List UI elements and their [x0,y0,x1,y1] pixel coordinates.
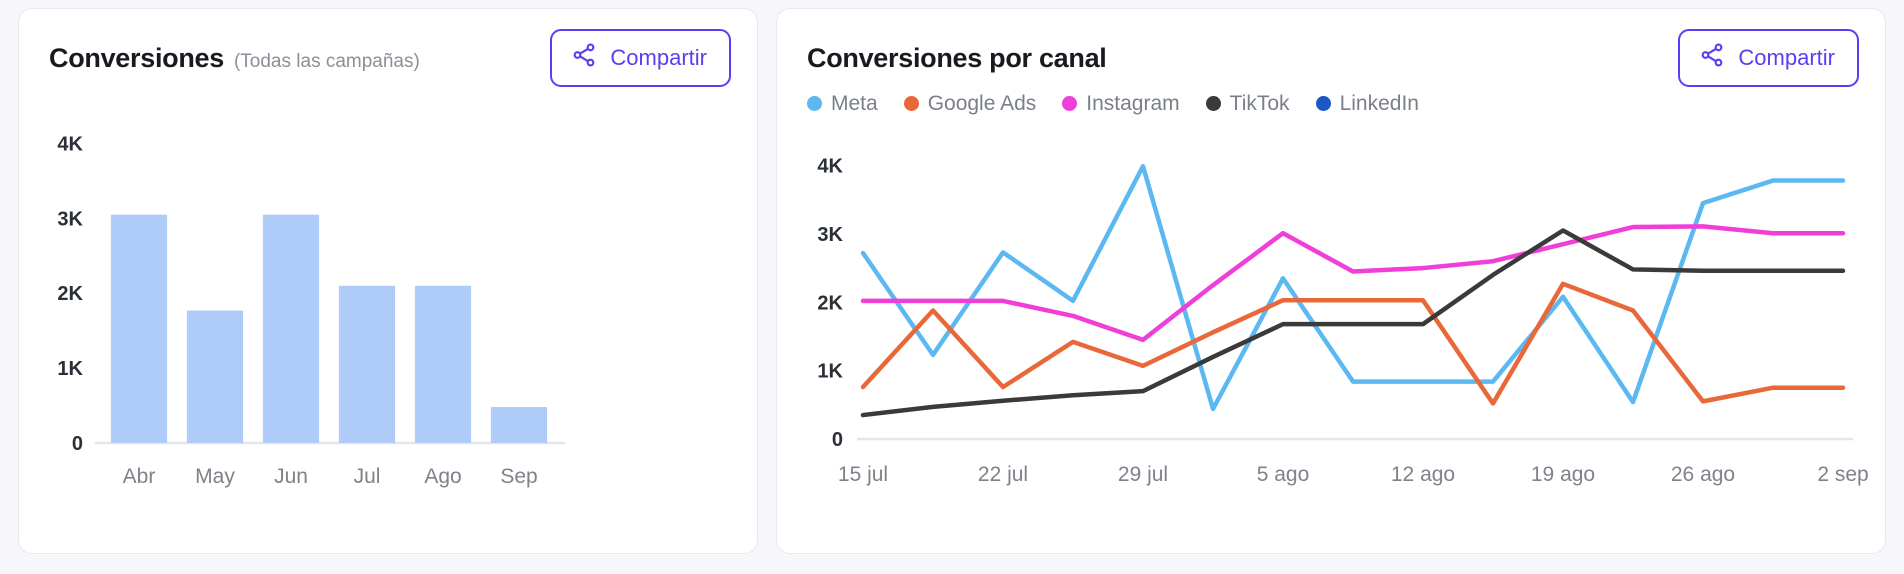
legend-color-swatch [807,96,822,111]
conversions-by-channel-card: Conversiones por canal Compartir MetaGoo… [776,8,1886,554]
x-axis-tick-label: 22 jul [978,463,1028,486]
legend-color-swatch [904,96,919,111]
bar[interactable] [339,286,395,443]
line-chart-svg: 01K2K3K4K15 jul22 jul29 jul5 ago12 ago19… [777,115,1885,517]
legend-label: TikTok [1230,93,1290,114]
legend-item-google-ads[interactable]: Google Ads [904,93,1037,114]
channel-title-group: Conversiones por canal [807,43,1678,74]
x-axis-tick-label: 5 ago [1257,463,1310,486]
y-axis-tick-label: 2K [817,292,843,314]
x-axis-tick-label: 29 jul [1118,463,1168,486]
legend-item-tiktok[interactable]: TikTok [1206,93,1290,114]
line-series-meta[interactable] [863,166,1843,409]
x-axis-tick-label: Sep [500,465,537,488]
bar[interactable] [491,407,547,443]
conversions-card: Conversiones (Todas las campañas) Compar… [18,8,758,554]
y-axis-tick-label: 1K [57,358,83,380]
y-axis-tick-label: 3K [817,224,843,246]
share-button-channels[interactable]: Compartir [1678,29,1859,87]
legend-color-swatch [1206,96,1221,111]
share-button-conversions[interactable]: Compartir [550,29,731,87]
x-axis-tick-label: 26 ago [1671,463,1735,486]
share-nodes-icon [1699,42,1725,74]
legend-label: LinkedIn [1340,93,1419,114]
x-axis-tick-label: Jun [274,465,308,488]
share-button-label: Compartir [610,47,707,69]
conversions-subtitle: (Todas las campañas) [234,51,420,73]
y-axis-tick-label: 3K [57,208,83,230]
legend-item-instagram[interactable]: Instagram [1062,93,1179,114]
conversions-bar-chart: 01K2K3K4KAbrMayJunJulAgoSep [19,81,757,521]
share-button-label: Compartir [1738,47,1835,69]
y-axis-tick-label: 0 [832,429,843,451]
legend-item-linkedin[interactable]: LinkedIn [1316,93,1419,114]
x-axis-tick-label: Jul [354,465,381,488]
x-axis-tick-label: 2 sep [1817,463,1868,486]
legend-label: Google Ads [928,93,1037,114]
x-axis-tick-label: 12 ago [1391,463,1455,486]
legend-color-swatch [1316,96,1331,111]
bar-chart-svg: 01K2K3K4KAbrMayJunJulAgoSep [19,81,757,521]
legend-item-meta[interactable]: Meta [807,93,878,114]
x-axis-tick-label: 15 jul [838,463,888,486]
legend-color-swatch [1062,96,1077,111]
bar[interactable] [111,215,167,443]
channel-card-header: Conversiones por canal Compartir [777,9,1885,81]
conversions-title-group: Conversiones (Todas las campañas) [49,43,550,74]
y-axis-tick-label: 2K [57,283,83,305]
legend-label: Instagram [1086,93,1179,114]
x-axis-tick-label: 19 ago [1531,463,1595,486]
bar[interactable] [415,286,471,443]
conversions-line-chart: 01K2K3K4K15 jul22 jul29 jul5 ago12 ago19… [777,115,1885,517]
x-axis-tick-label: May [195,465,235,488]
y-axis-tick-label: 4K [817,156,843,178]
bar[interactable] [263,215,319,443]
channel-chart-title: Conversiones por canal [807,43,1107,74]
y-axis-tick-label: 1K [817,361,843,383]
bar[interactable] [187,310,243,443]
dashboard-root: Conversiones (Todas las campañas) Compar… [0,0,1904,574]
y-axis-tick-label: 4K [57,133,83,155]
share-nodes-icon [571,42,597,74]
page-title: Conversiones [49,43,224,74]
legend-label: Meta [831,93,878,114]
x-axis-tick-label: Ago [424,465,461,488]
conversions-card-header: Conversiones (Todas las campañas) Compar… [19,9,757,81]
x-axis-tick-label: Abr [123,465,156,488]
y-axis-tick-label: 0 [72,433,83,455]
